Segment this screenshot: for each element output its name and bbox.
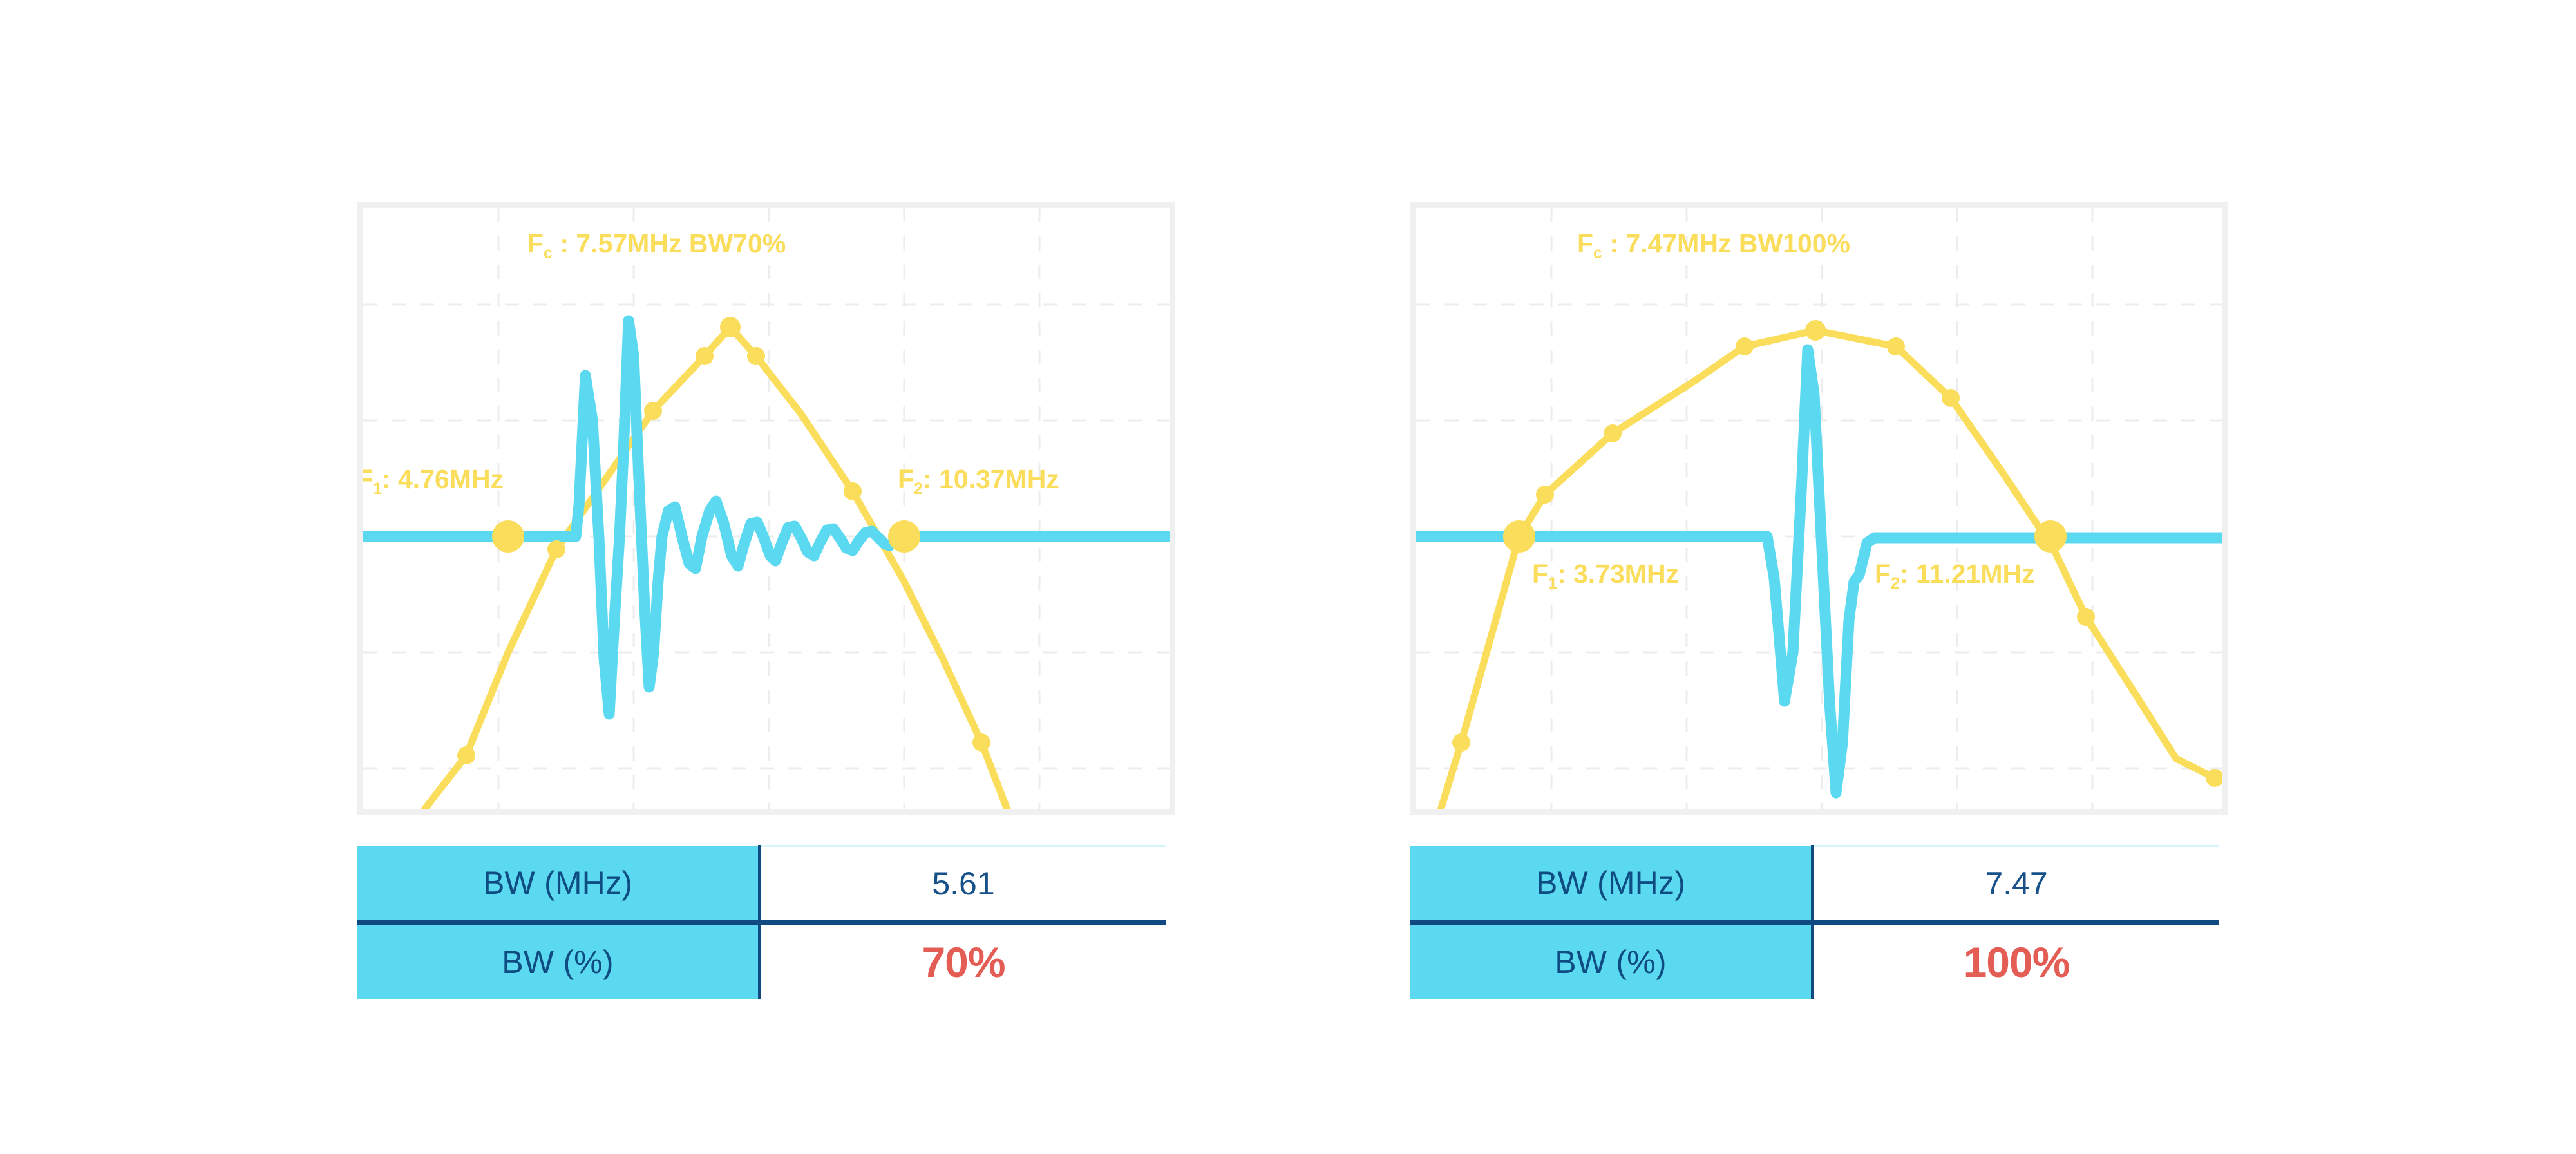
table-row: BW (%) 100%	[1410, 923, 2219, 999]
chart-plot-area-left: Fc : 7.57MHz BW70% F1: 4.76MHz F2: 10.37…	[363, 208, 1170, 809]
spectrum-peak-marker-right	[1805, 320, 1826, 341]
chart-svg-left	[363, 208, 1170, 809]
annotation-f2: F2: 10.37MHz	[898, 464, 1059, 498]
fc-symbol: F	[1577, 229, 1593, 258]
table-value-bw-mhz: 5.61	[759, 846, 1166, 923]
waveform-curve-left	[363, 321, 1170, 714]
spectrum-markers-left	[457, 347, 990, 764]
f1-text: : 3.73MHz	[1557, 559, 1679, 589]
fc-text: : 7.57MHz BW70%	[553, 229, 786, 258]
f2-symbol: F	[898, 464, 914, 494]
transducer-panel-left: Fc : 7.57MHz BW70% F1: 4.76MHz F2: 10.37…	[309, 0, 1249, 1154]
f1-subscript: 1	[1548, 574, 1557, 592]
f2-symbol: F	[1875, 559, 1891, 589]
fc-subscript: c	[1593, 244, 1602, 262]
annotation-f1: F1: 4.76MHz	[363, 464, 504, 498]
annotation-f1: F1: 3.73MHz	[1532, 559, 1679, 593]
annotation-center-frequency: Fc : 7.47MHz BW100%	[1577, 229, 1850, 263]
table-value-bw-pct: 70%	[759, 923, 1166, 999]
table-row: BW (%) 70%	[357, 923, 1166, 999]
fc-text: : 7.47MHz BW100%	[1602, 229, 1850, 258]
f1-symbol: F	[363, 464, 373, 494]
table-value-bw-mhz: 7.47	[1812, 846, 2219, 923]
spectrum-peak-marker-left	[720, 317, 741, 337]
annotation-center-frequency: Fc : 7.57MHz BW70%	[527, 229, 786, 263]
f1-subscript: 1	[373, 480, 382, 498]
table-header-bw-pct: BW (%)	[357, 923, 759, 999]
f2-marker-right	[2034, 520, 2067, 553]
table-header-bw-mhz: BW (MHz)	[1410, 846, 1812, 923]
f2-subscript: 2	[914, 480, 923, 498]
table-value-bw-pct: 100%	[1812, 923, 2219, 999]
bandwidth-table-left: BW (MHz) 5.61 BW (%) 70%	[357, 845, 1166, 999]
f2-subscript: 2	[1891, 574, 1900, 592]
f1-symbol: F	[1532, 559, 1548, 589]
fc-subscript: c	[544, 244, 553, 262]
f2-marker-left	[888, 520, 920, 553]
chart-svg-right	[1416, 208, 2222, 809]
chart-plot-area-right: Fc : 7.47MHz BW100% F1: 3.73MHz F2: 11.2…	[1416, 208, 2222, 809]
chart-frame-left: Fc : 7.57MHz BW70% F1: 4.76MHz F2: 10.37…	[357, 202, 1175, 815]
annotation-f2: F2: 11.21MHz	[1875, 559, 2035, 593]
f1-marker-left	[492, 520, 524, 553]
table-header-bw-pct: BW (%)	[1410, 923, 1812, 999]
bandwidth-table-right: BW (MHz) 7.47 BW (%) 100%	[1410, 845, 2219, 999]
f1-text: : 4.76MHz	[382, 464, 504, 494]
table-row: BW (MHz) 5.61	[357, 846, 1166, 923]
f2-text: : 11.21MHz	[1900, 559, 2035, 589]
table-header-bw-mhz: BW (MHz)	[357, 846, 759, 923]
table-row: BW (MHz) 7.47	[1410, 846, 2219, 923]
f2-text: : 10.37MHz	[923, 464, 1059, 494]
spectrum-curve-left	[401, 327, 1027, 809]
transducer-panel-right: Fc : 7.47MHz BW100% F1: 3.73MHz F2: 11.2…	[1362, 0, 2302, 1154]
f1-marker-right	[1503, 520, 1535, 553]
chart-frame-right: Fc : 7.47MHz BW100% F1: 3.73MHz F2: 11.2…	[1410, 202, 2228, 815]
fc-symbol: F	[527, 229, 544, 258]
